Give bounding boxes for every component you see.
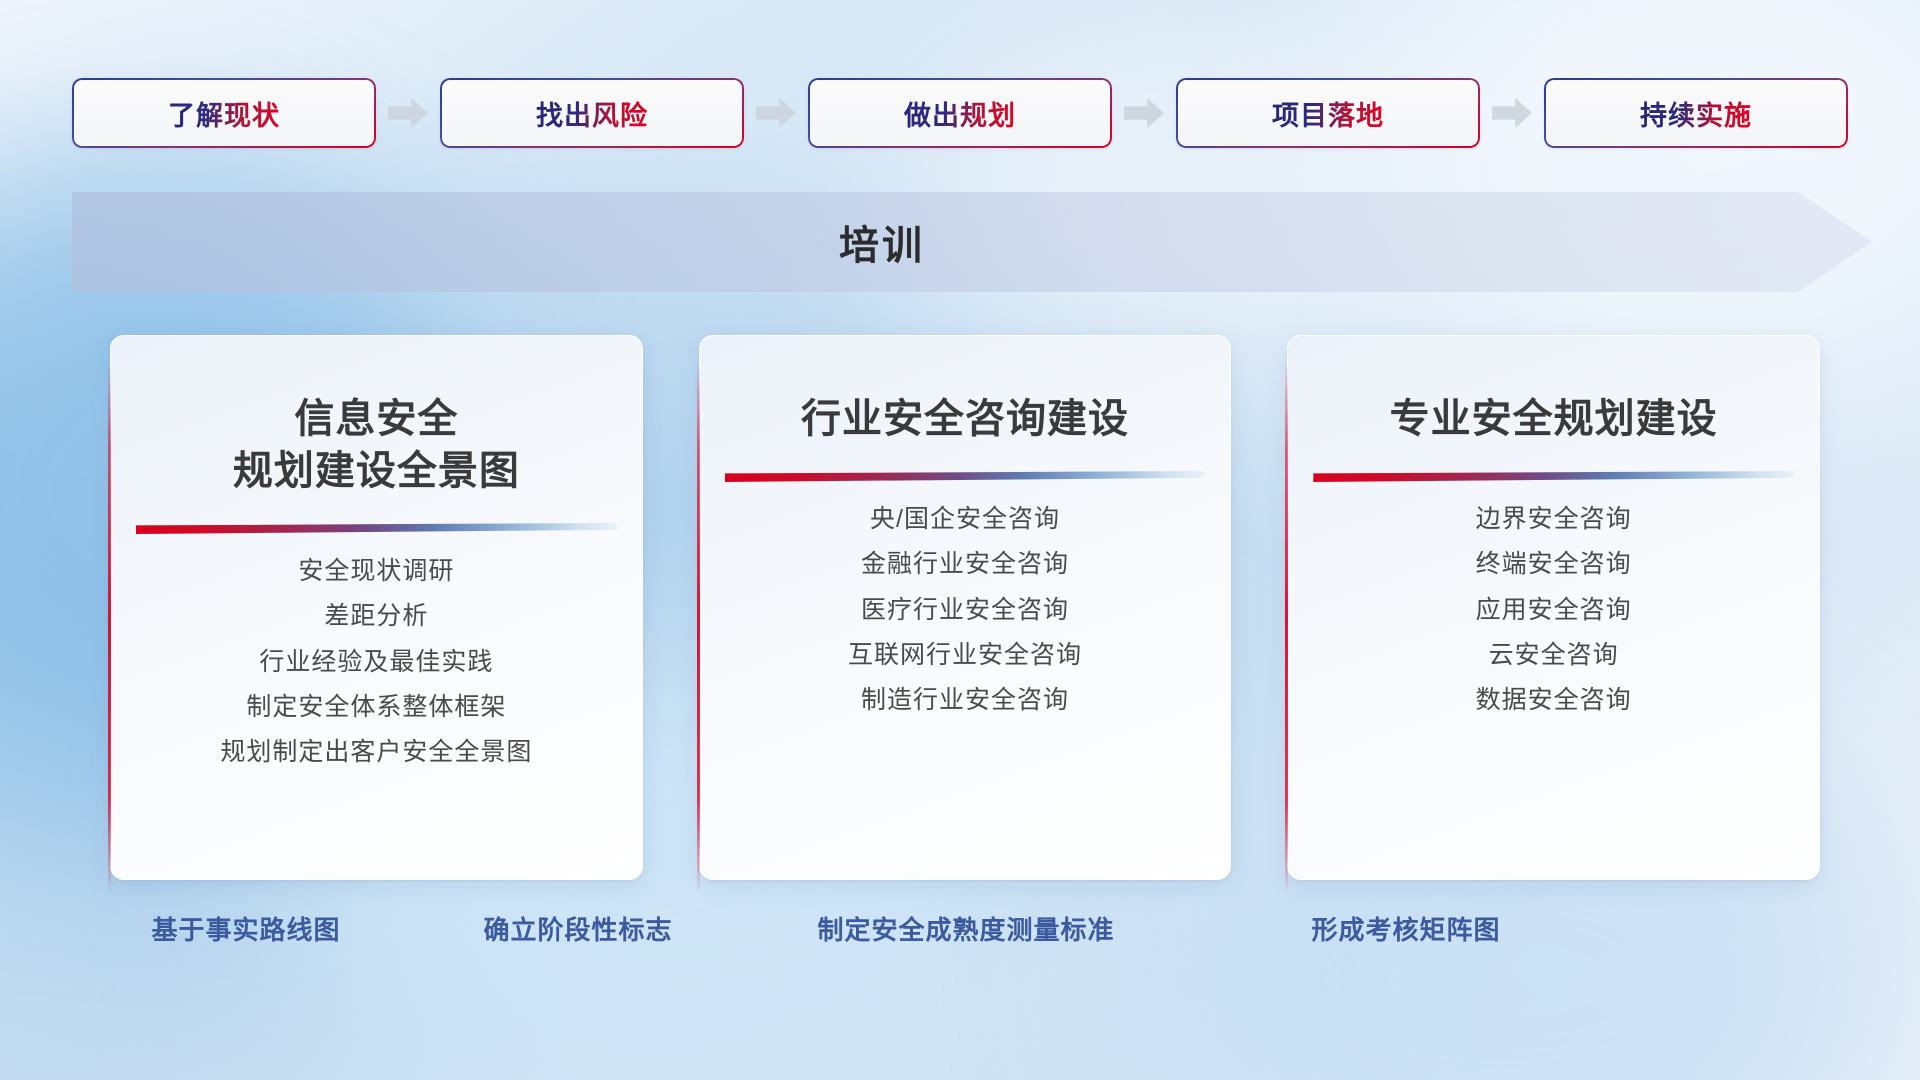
card-divider-2 xyxy=(725,471,1206,482)
step-label-2: 找出风险 xyxy=(536,94,648,133)
footer-label-3: 制定安全成熟度测量标准 xyxy=(817,910,1114,947)
banner-label: 培训 xyxy=(839,213,925,271)
slide-canvas: 了解现状 找出风险 做出规划 项目落地 持续实施 培训 xyxy=(0,0,1920,1080)
arrow-right-icon xyxy=(1492,98,1532,128)
list-item: 边界安全咨询 xyxy=(1476,504,1632,535)
step-arrow-gap-2 xyxy=(744,78,808,148)
list-item: 云安全咨询 xyxy=(1489,640,1619,671)
arrow-right-icon xyxy=(1124,98,1164,128)
step-label-3: 做出规划 xyxy=(904,94,1016,133)
arrow-right-icon xyxy=(756,98,796,128)
list-item: 规划制定出客户安全全景图 xyxy=(220,737,532,768)
card-divider-3 xyxy=(1313,471,1794,482)
step-label-5: 持续实施 xyxy=(1640,94,1752,133)
training-banner-arrow: 培训 xyxy=(72,192,1872,292)
list-item: 互联网行业安全咨询 xyxy=(848,640,1082,671)
card-row: 信息安全 规划建设全景图 安全现状调研 差距分析 行业经验及最佳实践 制定安全体… xyxy=(110,335,1820,880)
step-box-5[interactable]: 持续实施 xyxy=(1544,78,1848,148)
step-box-1[interactable]: 了解现状 xyxy=(72,78,376,148)
footer-label-2: 确立阶段性标志 xyxy=(483,910,672,947)
step-arrow-gap-1 xyxy=(376,78,440,148)
footer-label-row: 基于事实路线图 确立阶段性标志 制定安全成熟度测量标准 形成考核矩阵图 xyxy=(0,910,1920,960)
step-label-4: 项目落地 xyxy=(1272,94,1384,133)
list-item: 行业经验及最佳实践 xyxy=(259,647,493,678)
card-title-3: 专业安全规划建设 xyxy=(1390,393,1718,445)
list-item: 安全现状调研 xyxy=(298,556,454,587)
arrow-right-icon xyxy=(388,98,428,128)
list-item: 制定安全体系整体框架 xyxy=(246,692,506,723)
process-step-row: 了解现状 找出风险 做出规划 项目落地 持续实施 xyxy=(72,78,1848,148)
list-item: 央/国企安全咨询 xyxy=(870,504,1060,535)
card-title-1: 信息安全 规划建设全景图 xyxy=(233,393,520,497)
card-1[interactable]: 信息安全 规划建设全景图 安全现状调研 差距分析 行业经验及最佳实践 制定安全体… xyxy=(110,335,643,880)
card-list-3: 边界安全咨询 终端安全咨询 应用安全咨询 云安全咨询 数据安全咨询 xyxy=(1313,504,1794,716)
step-box-4[interactable]: 项目落地 xyxy=(1176,78,1480,148)
card-3[interactable]: 专业安全规划建设 边界安全咨询 终端安全咨询 应用安全咨询 云安全咨询 数据安全… xyxy=(1287,335,1820,880)
list-item: 制造行业安全咨询 xyxy=(861,685,1069,716)
list-item: 医疗行业安全咨询 xyxy=(861,595,1069,626)
list-item: 数据安全咨询 xyxy=(1476,685,1632,716)
step-box-2[interactable]: 找出风险 xyxy=(440,78,744,148)
step-arrow-gap-3 xyxy=(1112,78,1176,148)
card-title-2: 行业安全咨询建设 xyxy=(801,393,1129,445)
footer-label-1: 基于事实路线图 xyxy=(151,910,340,947)
step-arrow-gap-4 xyxy=(1480,78,1544,148)
list-item: 终端安全咨询 xyxy=(1476,549,1632,580)
footer-label-4: 形成考核矩阵图 xyxy=(1311,910,1500,947)
step-box-3[interactable]: 做出规划 xyxy=(808,78,1112,148)
card-2[interactable]: 行业安全咨询建设 央/国企安全咨询 金融行业安全咨询 医疗行业安全咨询 互联网行… xyxy=(699,335,1232,880)
card-divider-1 xyxy=(136,523,617,534)
list-item: 金融行业安全咨询 xyxy=(861,549,1069,580)
step-label-1: 了解现状 xyxy=(168,94,280,133)
card-list-1: 安全现状调研 差距分析 行业经验及最佳实践 制定安全体系整体框架 规划制定出客户… xyxy=(136,556,617,768)
list-item: 应用安全咨询 xyxy=(1476,595,1632,626)
card-list-2: 央/国企安全咨询 金融行业安全咨询 医疗行业安全咨询 互联网行业安全咨询 制造行… xyxy=(725,504,1206,716)
list-item: 差距分析 xyxy=(324,601,428,632)
